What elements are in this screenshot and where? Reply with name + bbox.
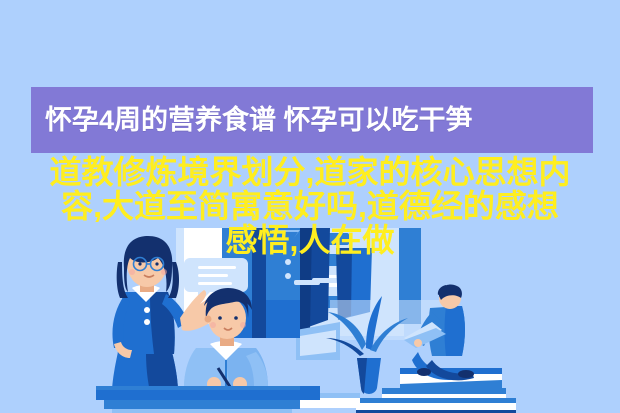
screenshot-canvas: 怀孕4周的营养食谱 怀孕可以吃干笋 道教修炼境界划分,道家的核心思想内 容,大道…	[0, 0, 620, 413]
banner-title-text: 怀孕4周的营养食谱 怀孕可以吃干笋	[45, 107, 473, 134]
overlay-line-3: 感悟,人在做	[0, 223, 620, 257]
overlay-headline: 道教修炼境界划分,道家的核心思想内 容,大道至简寓意好吗,道德经的感想 感悟,人…	[0, 155, 620, 257]
overlay-line-2: 容,大道至简寓意好吗,道德经的感想	[0, 189, 620, 223]
overlay-line-1: 道教修炼境界划分,道家的核心思想内	[0, 155, 620, 189]
desk-front	[104, 400, 300, 409]
desk-base	[112, 409, 292, 413]
desk	[96, 386, 308, 413]
title-banner: 怀孕4周的营养食谱 怀孕可以吃干笋	[31, 87, 593, 153]
